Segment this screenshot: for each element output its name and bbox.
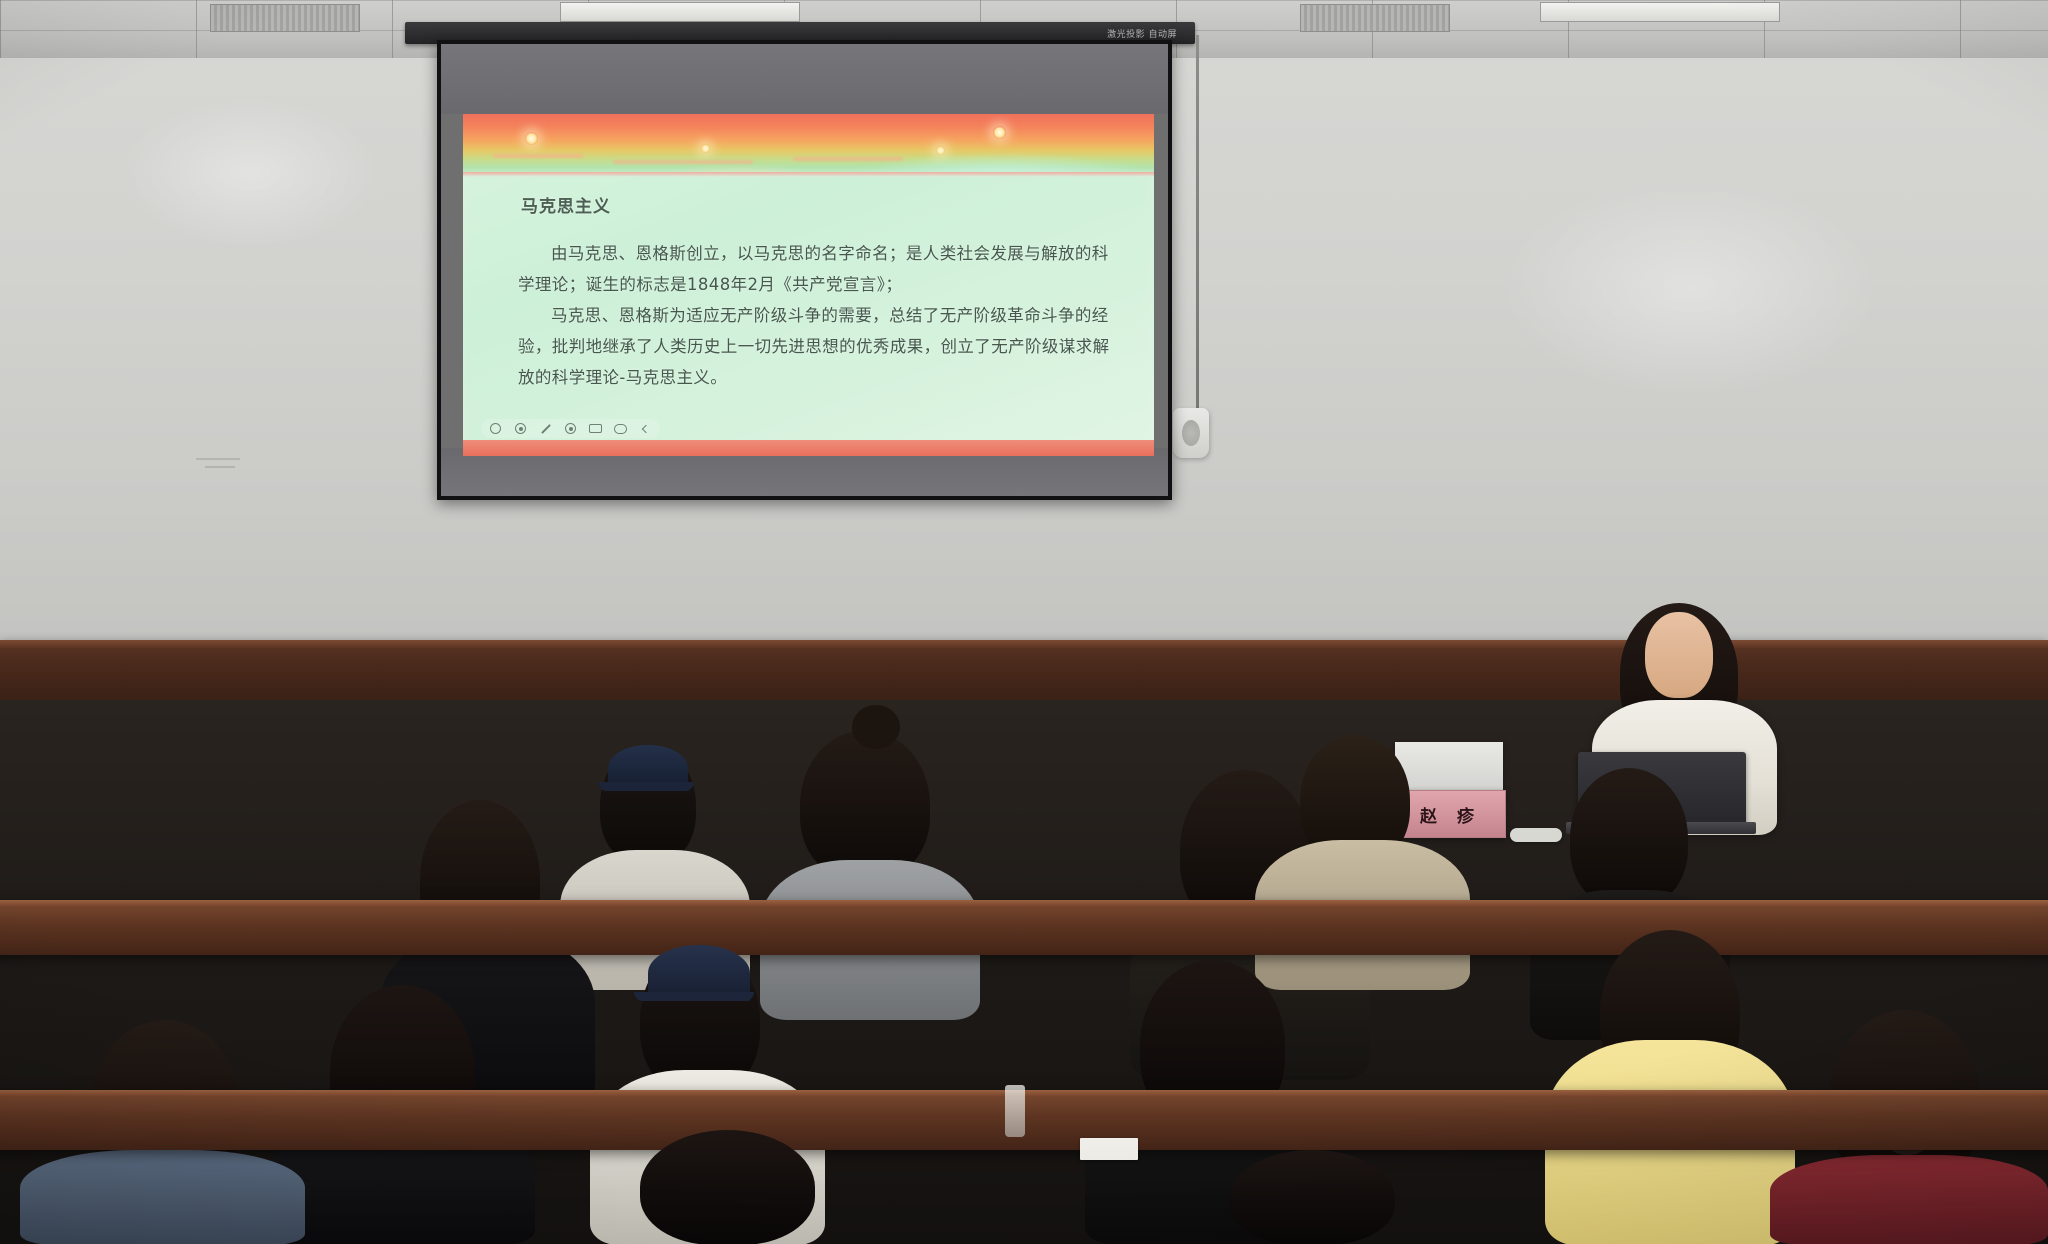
ceiling-vent [210, 4, 360, 32]
circle-outline-icon[interactable] [489, 422, 502, 435]
screen-power-cable [1196, 35, 1199, 425]
slide-bottom-band [463, 440, 1154, 456]
wall-stain [120, 98, 380, 248]
desk-edge [0, 640, 2048, 648]
housing-brand-label: 激光投影 自动屏 [1107, 27, 1177, 40]
slide-paragraph: 由马克思、恩格斯创立，以马克思的名字命名；是人类社会发展与解放的科学理论；诞生的… [518, 238, 1118, 300]
cloud-streak [493, 154, 583, 158]
slide-body-text: 由马克思、恩格斯创立，以马克思的名字命名；是人类社会发展与解放的科学理论；诞生的… [518, 238, 1118, 393]
sun-icon [936, 146, 945, 155]
slide-sunset-banner [463, 114, 1154, 172]
ellipsis-icon[interactable] [614, 422, 627, 435]
lecture-hall-photo: 激光投影 自动屏 马克思主义 由马克思、恩格斯创 [0, 0, 2048, 1244]
computer-mouse[interactable] [1510, 828, 1562, 842]
wall-stain [1500, 178, 1880, 398]
slide-paragraph: 马克思、恩格斯为适应无产阶级斗争的需要，总结了无产阶级革命斗争的经验，批判地继承… [518, 300, 1118, 393]
front-desk-row [0, 640, 2048, 700]
desk-row [0, 900, 2048, 955]
student-body [1770, 1155, 2048, 1244]
slide-title: 马克思主义 [521, 192, 611, 217]
cap-brim [598, 782, 694, 791]
ceiling-vent [1300, 4, 1450, 32]
dot-circle-icon[interactable] [514, 422, 527, 435]
paper-sheet [1080, 1138, 1138, 1160]
projection-screen[interactable]: 马克思主义 由马克思、恩格斯创立，以马克思的名字命名；是人类社会发展与解放的科学… [437, 40, 1172, 500]
wall-crack [196, 458, 240, 460]
laser-pointer-icon[interactable] [564, 422, 577, 435]
wall-crack [205, 466, 235, 468]
sun-icon [993, 126, 1006, 139]
slide-thumbnails-icon[interactable] [589, 422, 602, 435]
powerpoint-slide[interactable]: 马克思主义 由马克思、恩格斯创立，以马克思的名字命名；是人类社会发展与解放的科学… [463, 114, 1154, 456]
cloud-streak [793, 157, 903, 161]
chevron-left-icon[interactable] [639, 422, 652, 435]
screen-letterbox-top [441, 44, 1168, 114]
desk-edge [0, 900, 2048, 907]
screen-surface: 马克思主义 由马克思、恩格斯创立，以马克思的名字命名；是人类社会发展与解放的科学… [441, 44, 1168, 496]
ceiling-light-panel [1540, 2, 1780, 22]
presenter-head [1645, 612, 1713, 698]
presenter-toolbar[interactable] [481, 419, 660, 438]
cap-brim [634, 992, 754, 1001]
cloud-streak [613, 160, 753, 164]
student-body [20, 1150, 305, 1244]
slide-divider-line [463, 172, 1154, 177]
sun-icon [701, 144, 710, 153]
hair-bun [852, 705, 900, 749]
pen-icon[interactable] [539, 422, 552, 435]
water-bottle [1005, 1085, 1025, 1137]
sun-icon [525, 132, 538, 145]
ceiling-light-panel [560, 2, 800, 22]
wall-speaker [1173, 408, 1209, 458]
